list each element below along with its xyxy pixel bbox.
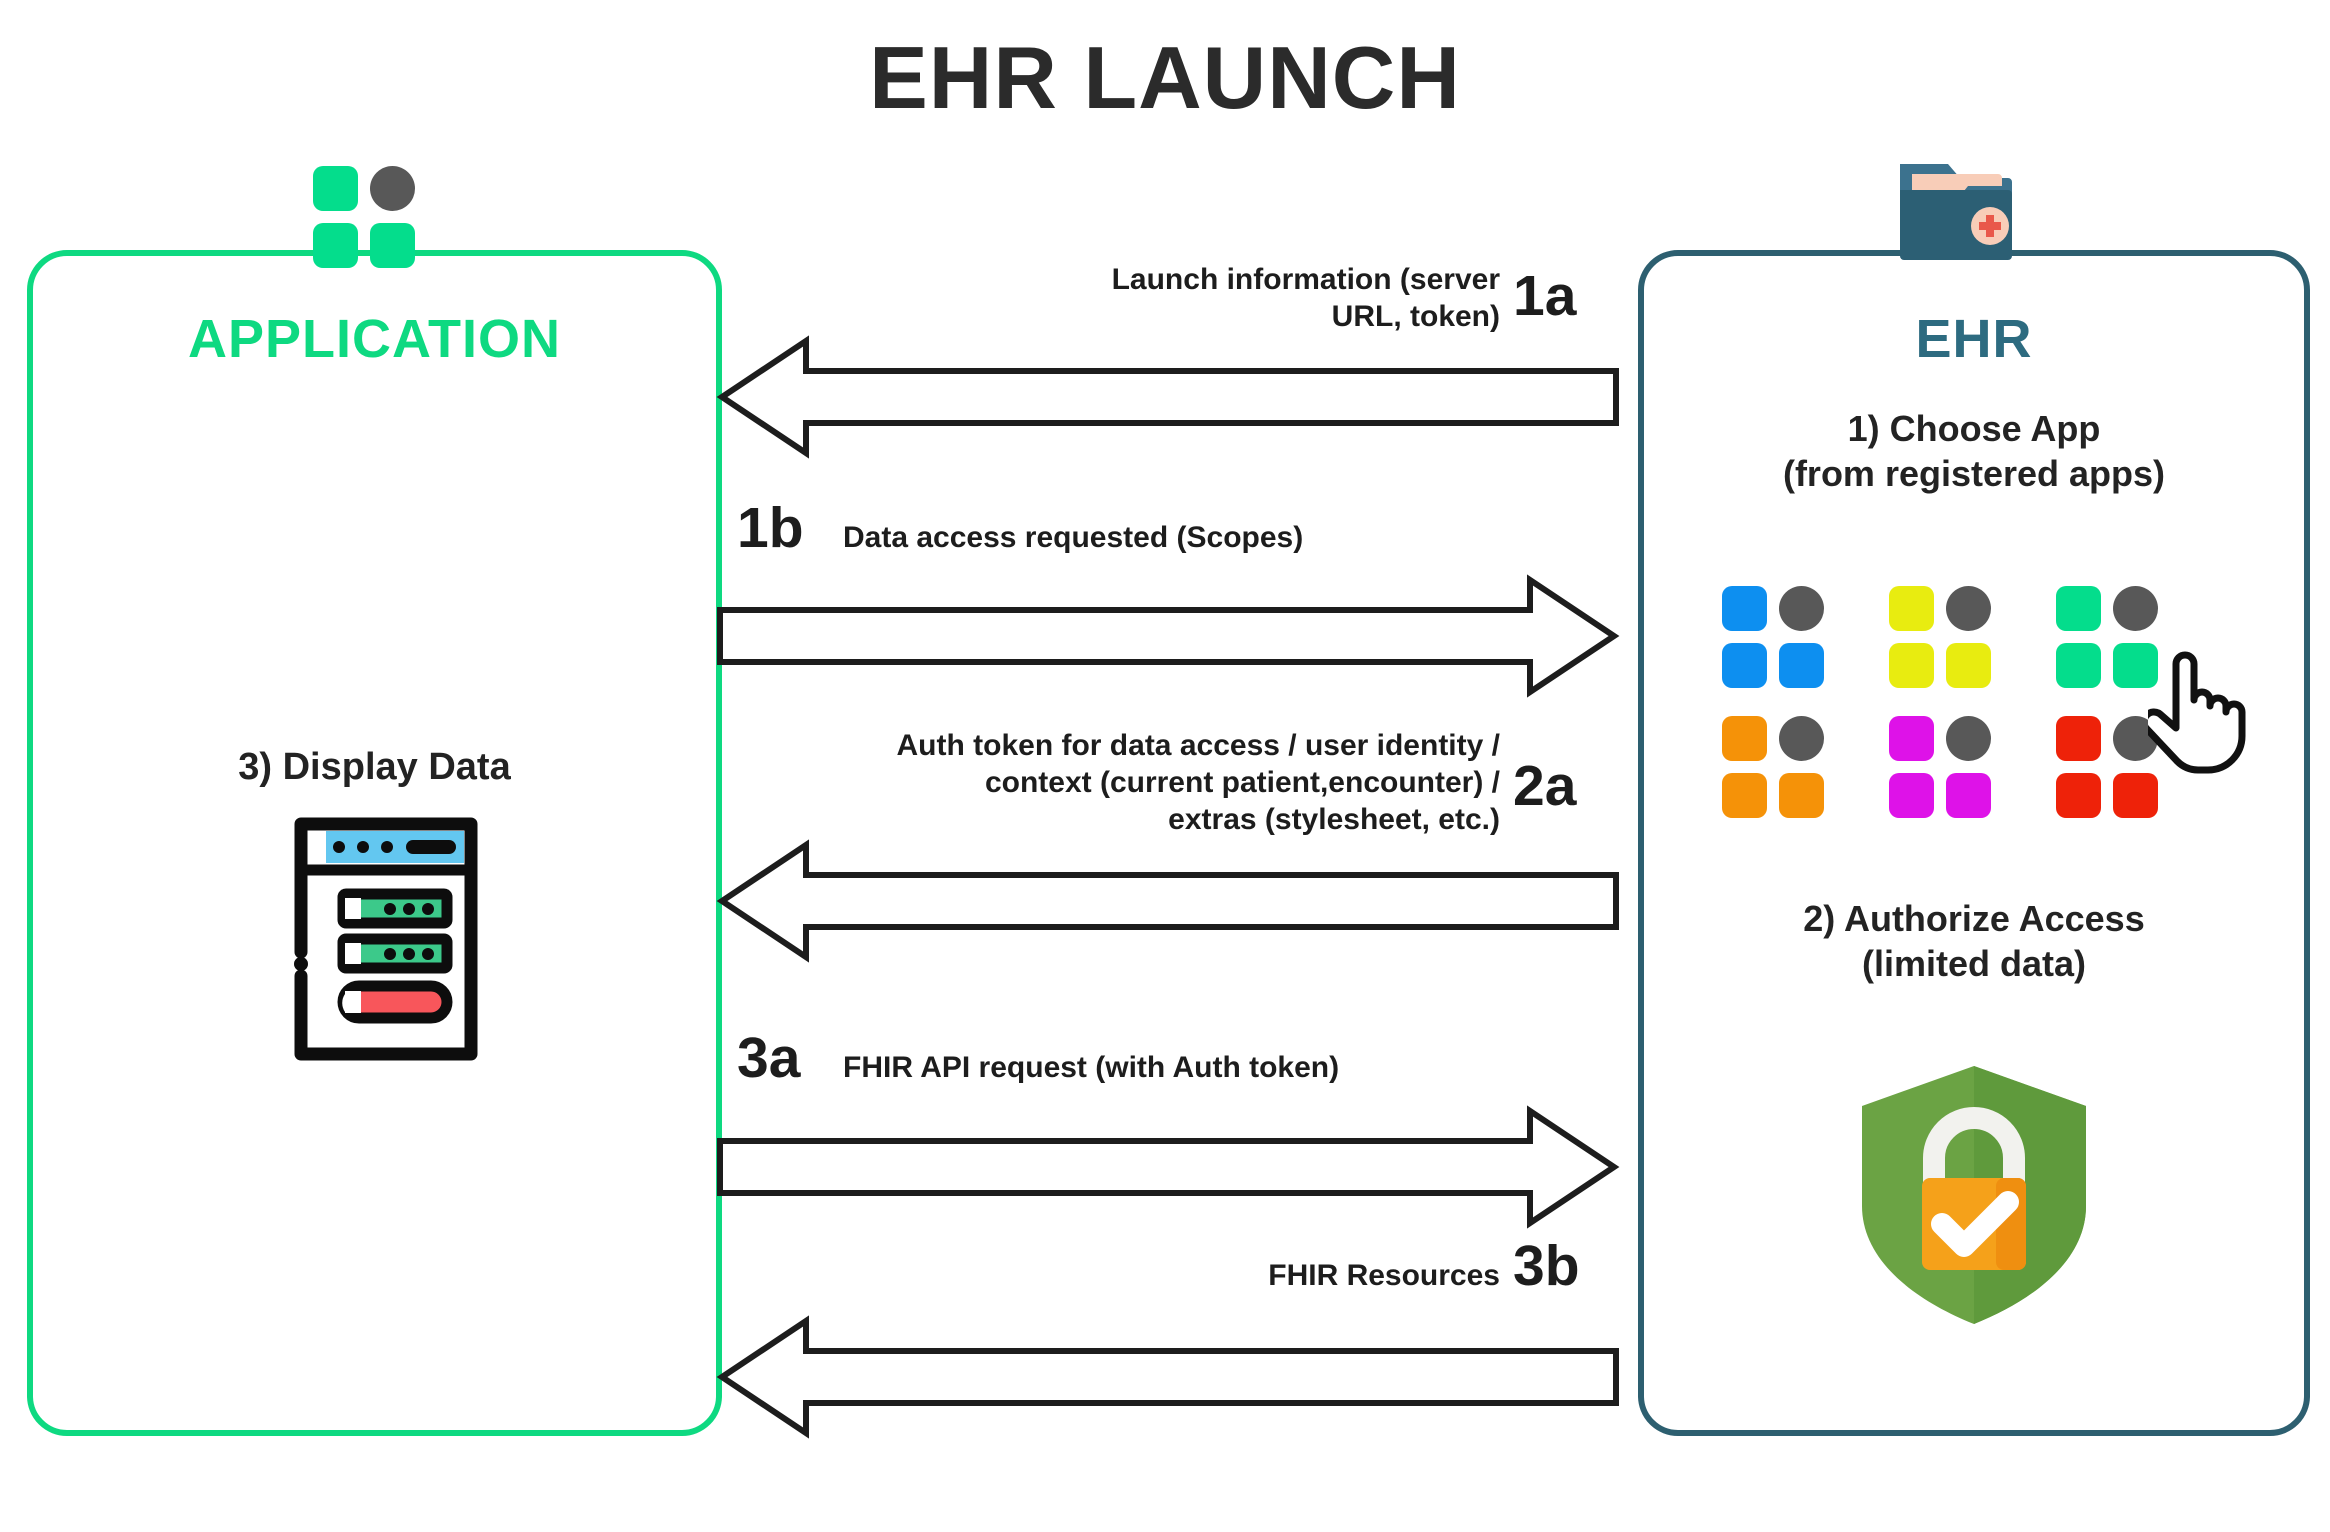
flow-3b-arrow-left [718,1318,1618,1436]
app-tile-bottom-left [313,223,358,268]
app-tile-top-left [2056,716,2101,761]
app-tile-top-left [1722,716,1767,761]
app-tile-top-left [1889,586,1934,631]
choose-app-line2: (from registered apps) [1644,451,2304,496]
flow-3a-line1: FHIR API request (with Auth token) [843,1050,1339,1087]
app-tile-top-left [313,166,358,211]
diagram-canvas: EHR LAUNCH APPLICATION 3) Display Data [0,0,2330,1532]
pointing-hand-cursor-icon [2148,648,2256,778]
application-panel: APPLICATION 3) Display Data [27,250,722,1436]
app-dot-top-right [1946,716,1991,761]
flow-2a-line3: extras (stylesheet, etc.) [740,802,1500,839]
registered-app-magenta[interactable] [1889,716,1999,819]
flow-1b-label: Data access requested (Scopes) [843,520,1303,557]
registered-app-orange[interactable] [1722,716,1832,819]
app-tile-bottom-right [1946,773,1991,818]
app-tile-bottom-right [1779,643,1824,688]
flow-1a-arrow-left [718,338,1618,456]
authorize-line2: (limited data) [1644,941,2304,986]
app-tile-bottom-left [1889,773,1934,818]
app-tile-bottom-left [1722,773,1767,818]
app-dot-top-right [370,166,415,211]
flow-1a-step-number: 1a [1513,268,1576,325]
app-tile-bottom-right [370,223,415,268]
flow-1b-step-number: 1b [737,500,804,557]
flow-1a-line1: Launch information (server [960,262,1500,299]
app-tile-bottom-left [2056,643,2101,688]
flow-1b-line1: Data access requested (Scopes) [843,520,1303,557]
app-tiles-icon [313,166,423,269]
flow-1a-label: Launch information (server URL, token) [960,262,1500,336]
authorize-access-heading: 2) Authorize Access (limited data) [1644,896,2304,987]
shield-lock-check-icon [1846,1060,2102,1332]
ehr-panel-title: EHR [1644,308,2304,370]
registered-apps-grid [1722,586,2182,796]
choose-app-line1: 1) Choose App [1644,406,2304,451]
registered-app-yellow[interactable] [1889,586,1999,689]
app-tile-bottom-left [1722,643,1767,688]
flow-3b-step-number: 3b [1513,1238,1580,1295]
app-tile-bottom-right [1946,643,1991,688]
authorize-line1: 2) Authorize Access [1644,896,2304,941]
app-dot-top-right [1779,716,1824,761]
app-tile-bottom-right [1779,773,1824,818]
page-title: EHR LAUNCH [0,30,2330,127]
flow-2a-line1: Auth token for data access / user identi… [740,728,1500,765]
app-dot-top-right [1779,586,1824,631]
flow-3a-step-number: 3a [737,1030,800,1087]
medical-folder-icon [1896,158,2038,263]
app-tile-bottom-left [2056,773,2101,818]
display-data-label: 3) Display Data [33,746,716,789]
app-tile-bottom-right [2113,773,2158,818]
flow-2a-line2: context (current patient,encounter) / [740,765,1500,802]
flow-2a-label: Auth token for data access / user identi… [740,728,1500,839]
flow-1a-line2: URL, token) [960,299,1500,336]
application-panel-title: APPLICATION [33,308,716,370]
flow-2a-arrow-left [718,842,1618,960]
registered-app-blue[interactable] [1722,586,1832,689]
app-tile-bottom-left [1889,643,1934,688]
flow-2a-step-number: 2a [1513,758,1576,815]
flow-3a-label: FHIR API request (with Auth token) [843,1050,1339,1087]
app-tile-top-left [1722,586,1767,631]
flow-3b-label: FHIR Resources [940,1258,1500,1295]
app-tile-top-left [2056,586,2101,631]
app-tile-top-left [1889,716,1934,761]
choose-app-heading: 1) Choose App (from registered apps) [1644,406,2304,497]
flow-3a-arrow-right [718,1108,1618,1226]
window-data-icon [287,814,485,1064]
flow-1b-arrow-right [718,577,1618,695]
app-dot-top-right [1946,586,1991,631]
flow-3b-line1: FHIR Resources [940,1258,1500,1295]
app-dot-top-right [2113,586,2158,631]
